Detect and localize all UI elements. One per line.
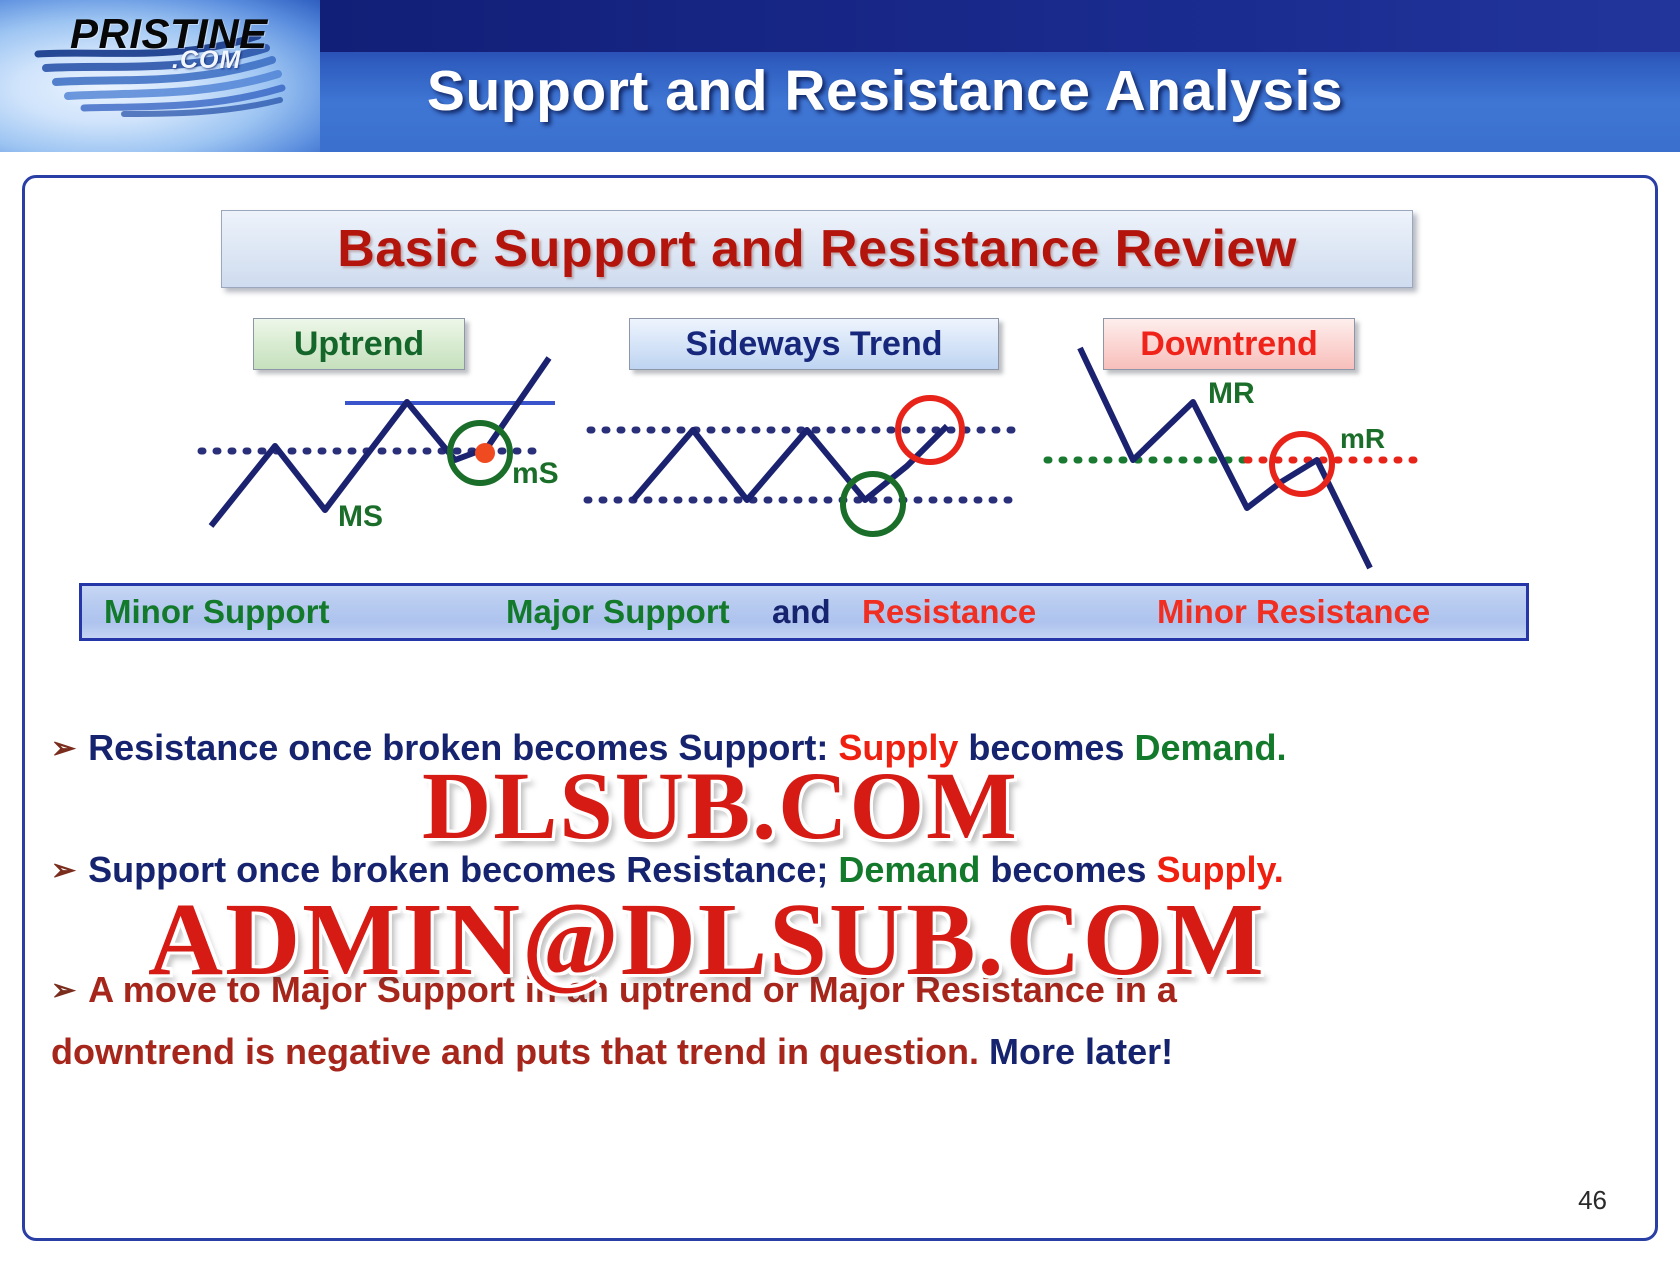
legend-minor-resistance: Minor Resistance [1157,593,1430,631]
downtrend-MR-label: MR [1208,377,1255,410]
uptrend-diagram: MS mS [201,358,559,533]
bullet-3-more-later: More later! [989,1031,1173,1072]
uptrend-mS-label: mS [512,457,559,490]
slide-root: PRISTINE .COM Support and Resistance Ana… [0,0,1680,1263]
uptrend-MS-label: MS [338,500,383,533]
bullet-1-demand: Demand. [1134,727,1286,768]
downtrend-mR-label: mR [1340,423,1385,454]
sideways-support-touch-marker [843,474,903,534]
legend-resistance: Resistance [862,593,1036,631]
sideways-diagram [587,398,1015,534]
bullet-arrow-icon: ➢ [51,732,76,765]
legend-and: and [772,593,831,631]
bullet-3-line-2-text: downtrend is negative and puts that tren… [51,1031,989,1072]
bullet-arrow-icon: ➢ [51,854,76,887]
legend-major-support: Major Support [506,593,730,631]
page-number: 46 [1578,1185,1607,1216]
bullet-item-3-line-2: downtrend is negative and puts that tren… [51,1030,1173,1074]
page-title: Support and Resistance Analysis [0,58,1680,124]
watermark-site: DLSUB.COM [422,750,1019,861]
slide-header: PRISTINE .COM Support and Resistance Ana… [0,0,1680,152]
uptrend-red-dot [475,443,495,463]
downtrend-minor-resistance-marker [1272,434,1332,494]
content-panel: Basic Support and Resistance Review Uptr… [22,175,1658,1241]
trend-diagrams: MS mS MR mR [25,178,1661,598]
bullet-arrow-icon: ➢ [51,974,76,1007]
legend-bar: Minor Support Major Support and Resistan… [79,583,1529,641]
legend-minor-support: Minor Support [104,593,329,631]
watermark-email: ADMIN@DLSUB.COM [148,880,1266,999]
downtrend-diagram: MR mR [1047,348,1425,568]
